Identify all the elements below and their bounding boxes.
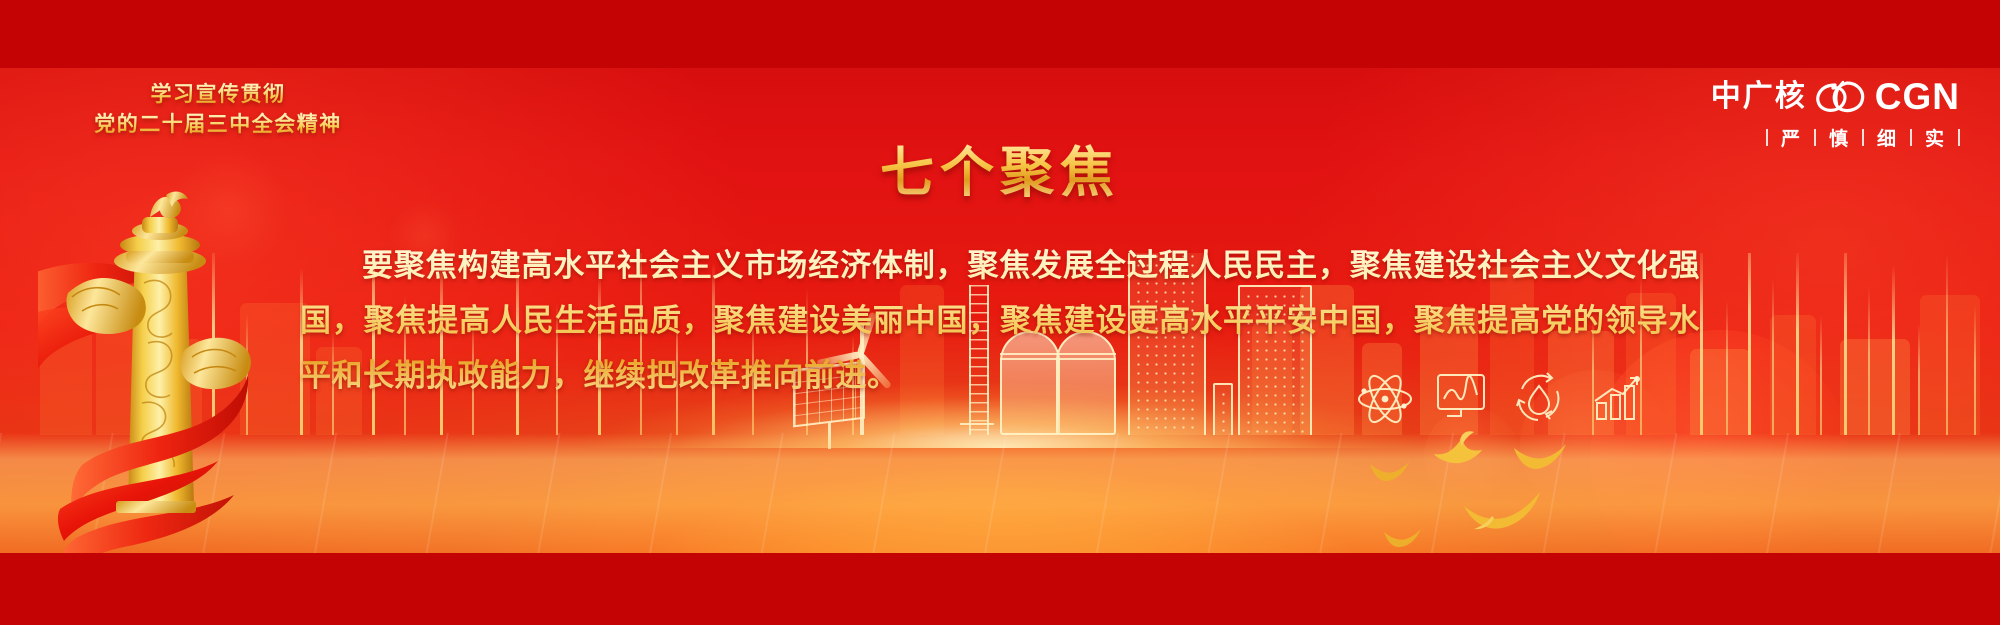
banner-title: 七个聚焦 bbox=[0, 128, 2000, 207]
dove-icon bbox=[1368, 460, 1410, 484]
logo-chinese-name: 中广核 bbox=[1711, 82, 1807, 112]
top-border-band bbox=[0, 0, 2000, 68]
banner-root: 学习宣传贯彻 党的二十届三中全会精神 七个聚焦 要聚焦构建高水平社会主义市场经济… bbox=[0, 0, 2000, 625]
huabiao-column bbox=[38, 165, 268, 565]
motto-divider bbox=[1958, 129, 1960, 146]
ground-plane bbox=[0, 433, 2000, 553]
banner-body-text: 要聚焦构建高水平社会主义市场经济体制，聚焦发展全过程人民民主，聚焦建设社会主义文… bbox=[300, 238, 1700, 404]
dove-icon bbox=[1382, 528, 1422, 550]
logo-english-name: CGN bbox=[1875, 78, 1960, 115]
motto-char-3: 细 bbox=[1864, 124, 1910, 151]
motto-char-2: 慎 bbox=[1816, 124, 1862, 151]
bottom-border-band bbox=[0, 553, 2000, 625]
dove-icon bbox=[1460, 488, 1546, 532]
cgn-logo: 中广核 CGN 严 慎 细 实 bbox=[1711, 78, 1960, 151]
motto-char-1: 严 bbox=[1768, 124, 1814, 151]
motto-char-4: 实 bbox=[1912, 124, 1958, 151]
dove-icon bbox=[1512, 442, 1568, 472]
slogan-line-1: 学习宣传贯彻 bbox=[58, 80, 378, 110]
logo-motto: 严 慎 细 实 bbox=[1711, 124, 1960, 151]
dove-icon bbox=[1430, 430, 1494, 470]
cgn-swirl-icon bbox=[1813, 80, 1869, 114]
